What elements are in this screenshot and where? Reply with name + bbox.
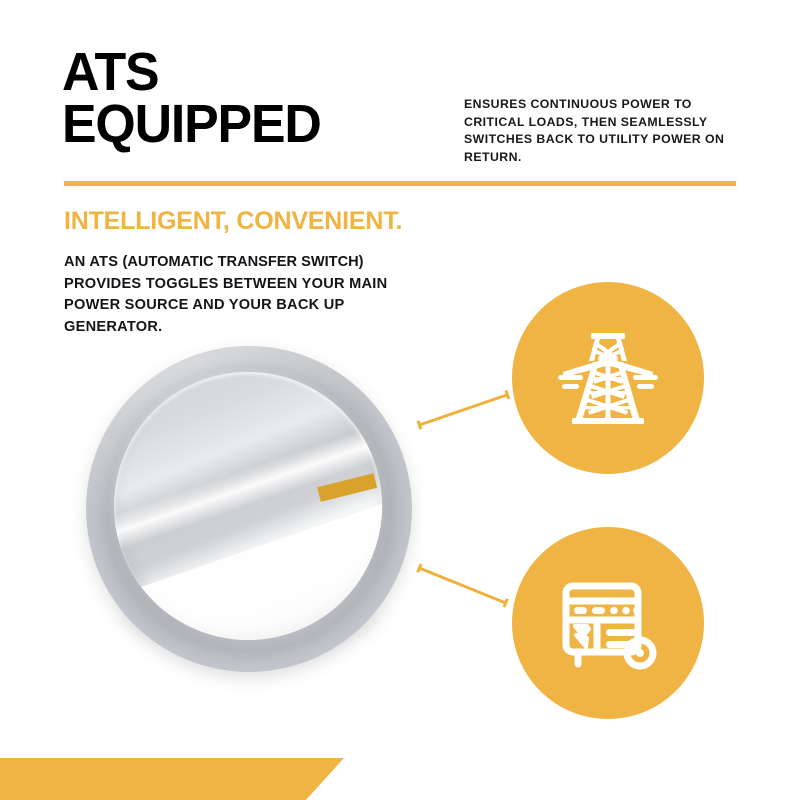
infographic-canvas: ATS EQUIPPED ENSURES CONTINUOUS POWER TO… bbox=[0, 0, 800, 800]
connector-cap-start bbox=[416, 563, 422, 572]
icon-badge-backup-generator[interactable] bbox=[512, 527, 704, 719]
page-title: ATS EQUIPPED bbox=[62, 46, 446, 150]
intro-paragraph: ENSURES CONTINUOUS POWER TO CRITICAL LOA… bbox=[464, 96, 754, 166]
bottom-accent-banner bbox=[0, 758, 344, 800]
connector-line-bottom bbox=[417, 566, 507, 605]
connector-line-top bbox=[418, 393, 510, 427]
body-emphasis: (AUTOMATIC TRANSFER SWITCH) bbox=[123, 254, 364, 270]
accent-divider bbox=[64, 181, 736, 186]
title-line-1: ATS bbox=[62, 42, 158, 102]
portable-generator-icon bbox=[548, 563, 668, 683]
icon-badge-utility-power[interactable] bbox=[512, 282, 704, 474]
body-suffix: PROVIDES TOGGLES BETWEEN YOUR MAIN POWER… bbox=[64, 276, 387, 335]
power-transmission-tower-icon bbox=[548, 318, 668, 438]
rotary-transfer-switch-dial[interactable] bbox=[86, 346, 412, 676]
connector-cap-end bbox=[503, 598, 509, 607]
body-prefix: AN ATS bbox=[64, 254, 123, 270]
title-line-2: EQUIPPED bbox=[62, 98, 446, 150]
connector-cap-end bbox=[504, 390, 510, 399]
connector-cap-start bbox=[417, 420, 423, 429]
subheading: INTELLIGENT, CONVENIENT. bbox=[64, 206, 402, 236]
body-copy: AN ATS (AUTOMATIC TRANSFER SWITCH) PROVI… bbox=[64, 252, 409, 338]
dial-face[interactable] bbox=[114, 372, 382, 640]
